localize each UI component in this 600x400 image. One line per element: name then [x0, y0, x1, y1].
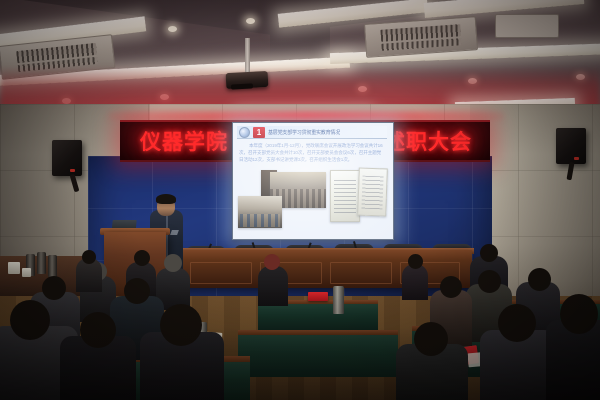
thermos-flask — [37, 252, 46, 274]
attendee-head — [440, 276, 462, 298]
projection-screen: 1 基层党支部学习贯彻重实教育情况 本年度（2019年1月-12月），党政联席会… — [232, 122, 394, 240]
thermos-flask — [48, 255, 57, 277]
slide-header-bar: 1 基层党支部学习贯彻重实教育情况 — [237, 126, 387, 139]
projector-mount-pole — [245, 38, 250, 74]
head-table-panel — [330, 262, 392, 284]
attendee-head — [498, 304, 536, 342]
recessed-downlight — [246, 18, 255, 24]
audience-attendee — [402, 264, 428, 300]
conference-hall-photograph: 仪器学院 述职大会 1 基层党支部学习贯彻重实教育情况 本年度（2019年1月-… — [0, 0, 600, 400]
slide-photo-group — [238, 170, 388, 233]
attendee-head — [528, 268, 551, 291]
attendee-head — [124, 278, 150, 304]
paper-cup-stack — [22, 268, 31, 277]
paper-cup-stack — [8, 262, 20, 274]
photo-document-record-1 — [330, 170, 360, 222]
slide-header-title: 基层党支部学习贯彻重实教育情况 — [268, 129, 340, 136]
led-banner-glow — [108, 112, 504, 120]
attendee-head — [408, 254, 423, 269]
red-booklet — [308, 292, 328, 301]
vacuum-thermos-flask — [333, 286, 344, 314]
presenter-hair — [156, 194, 176, 204]
led-banner-right-text: 述职大会 — [384, 126, 472, 156]
attendee-head — [42, 276, 66, 300]
photo-document-record-2 — [357, 168, 388, 217]
attendee-head — [414, 322, 448, 356]
organization-emblem-icon — [239, 127, 250, 138]
attendee-head — [164, 254, 182, 272]
ceiling — [0, 0, 600, 112]
attendee-head — [478, 270, 501, 293]
attendee-head — [560, 294, 598, 334]
audience-attendee — [258, 266, 288, 306]
recessed-downlight — [168, 26, 177, 32]
wall-mounted-loudspeaker — [52, 140, 82, 176]
attendee-head — [160, 304, 202, 346]
head-table-panel — [190, 262, 252, 284]
attendee-head — [80, 312, 116, 348]
slide-number-badge: 1 — [253, 127, 265, 138]
photo-study-session — [238, 196, 282, 228]
wall-mounted-loudspeaker — [556, 128, 586, 164]
slide-body-text: 本年度（2019年1月-12月），党政联席会议开展政治学习会议共计16次，召开支… — [239, 142, 385, 163]
attendee-head — [134, 250, 150, 266]
attendee-head — [480, 244, 498, 262]
audience-table-green-cloth — [238, 335, 398, 377]
attendee-head — [10, 300, 50, 340]
led-banner-left-text: 仪器学院 — [140, 126, 228, 156]
ceiling-ac-vent — [495, 14, 559, 38]
attendee-head — [264, 254, 280, 270]
attendee-head — [82, 250, 96, 264]
